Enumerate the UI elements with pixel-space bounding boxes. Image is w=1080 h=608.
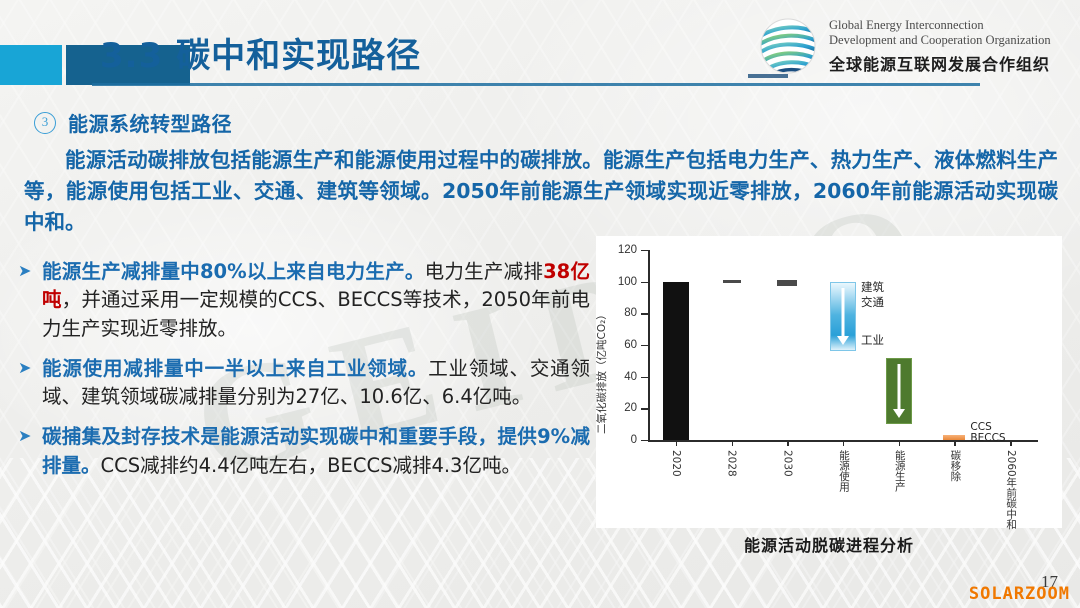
chart-y-tick-label: 60: [624, 339, 637, 351]
chart-x-tick-label: 碳移除: [948, 450, 963, 482]
arrow-bullet-icon: ➤: [18, 258, 36, 283]
section-heading: 3 能源系统转型路径: [34, 108, 232, 137]
arrow-bullet-icon: ➤: [18, 423, 36, 448]
list-item: ➤ 能源生产减排量中80%以上来自电力生产。电力生产减排38亿吨，并通过采用一定…: [18, 258, 590, 343]
chart-y-tick-label: 40: [624, 371, 637, 383]
slide: GEIDCO 3.3 碳中和实现路径: [0, 0, 1080, 608]
bullet-text: 能源使用减排量中一半以上来自工业领域。工业领域、交通领域、建筑领域碳减排量分别为…: [42, 355, 590, 412]
chart-bar: [663, 282, 689, 440]
logo-en-line2: Development and Cooperation Organization: [829, 33, 1051, 49]
section-heading-label: 能源系统转型路径: [68, 108, 232, 137]
chart-x-tick-label: 2028: [726, 450, 738, 477]
page-title: 3.3 碳中和实现路径: [100, 28, 421, 77]
chart-y-tick-label: 0: [631, 434, 637, 446]
intro-paragraph: 能源活动碳排放包括能源生产和能源使用过程中的碳排放。能源生产包括电力生产、热力生…: [24, 145, 1058, 238]
bullet-rest-a: CCS减排约4.4亿吨左右，BECCS减排4.3亿吨。: [101, 454, 521, 477]
chart-y-tick: [641, 408, 648, 409]
globe-icon: [757, 15, 819, 77]
chart-segment-label: 交通: [861, 294, 884, 310]
chart-bar: [943, 435, 965, 440]
chart-y-tick: [641, 250, 648, 251]
chart-x-tick-label: 2060年前碳中和: [1004, 450, 1019, 529]
chart-x-tick: [843, 440, 844, 446]
bullet-rest-a: 电力生产减排: [425, 260, 543, 283]
chart-y-axis-label: 二氧化碳排放（亿吨CO₂）: [594, 234, 609, 434]
chart-y-tick: [641, 313, 648, 314]
chart-arrow-head-icon: [837, 336, 849, 345]
chart-y-tick: [641, 345, 648, 346]
chart-x-tick: [954, 440, 955, 446]
chart-arrow-head-icon: [893, 409, 905, 418]
header-accent-light: [0, 45, 62, 85]
chart-y-tick-label: 20: [624, 402, 637, 414]
chart-annotation-ccs: CCSBECCS: [970, 422, 1005, 444]
chart-segment-label: 工业: [861, 332, 884, 348]
chart-y-tick-label: 80: [624, 307, 637, 319]
chart-x-tick-label: 2030: [781, 450, 793, 477]
chart-bar: [723, 280, 741, 283]
chart-y-tick: [641, 282, 648, 283]
chart-x-tick: [1010, 440, 1011, 446]
chart-x-tick-label: 能源使用: [837, 450, 852, 492]
chart-x-tick: [732, 440, 733, 446]
chart-title: 能源活动脱碳进程分析: [596, 532, 1062, 556]
bullet-list: ➤ 能源生产减排量中80%以上来自电力生产。电力生产减排38亿吨，并通过采用一定…: [18, 258, 590, 492]
arrow-bullet-icon: ➤: [18, 355, 36, 380]
chart-annotation-beccs-label: BECCS: [970, 433, 1005, 444]
chart-x-tick: [787, 440, 788, 446]
chart-x-tick-label: 2020: [670, 450, 682, 477]
chart-bar: [777, 280, 797, 286]
header-rule: [92, 83, 980, 86]
chart-y-tick-label: 100: [618, 276, 637, 288]
header-band: 3.3 碳中和实现路径: [0, 0, 1080, 92]
section-marker: 3: [34, 112, 56, 134]
logo-en-line1: Global Energy Interconnection: [829, 18, 1051, 34]
logo-text: Global Energy Interconnection Developmen…: [829, 18, 1051, 75]
bullet-text: 能源生产减排量中80%以上来自电力生产。电力生产减排38亿吨，并通过采用一定规模…: [42, 258, 590, 343]
chart-x-tick: [676, 440, 677, 446]
chart-y-axis: [648, 250, 650, 440]
chart-panel: 二氧化碳排放（亿吨CO₂） 02040608010012020202028203…: [596, 236, 1062, 528]
chart-y-tick: [641, 440, 648, 441]
solarzoom-watermark: SOLARZOOM: [969, 584, 1070, 604]
list-item: ➤ 碳捕集及封存技术是能源活动实现碳中和重要手段，提供9%减排量。CCS减排约4…: [18, 423, 590, 480]
logo-cn-name: 全球能源互联网发展合作组织: [829, 51, 1051, 75]
bullet-lead: 能源使用减排量中一半以上来自工业领域。: [42, 357, 428, 380]
chart-arrow-stem-icon: [897, 364, 900, 411]
geidco-logo: Global Energy Interconnection Developmen…: [757, 12, 1069, 80]
chart-x-tick: [899, 440, 900, 446]
chart-arrow-stem-icon: [842, 288, 845, 338]
chart-y-tick: [641, 377, 648, 378]
bullet-rest-b: ，并通过采用一定规模的CCS、BECCS等技术，2050年前电力生产实现近零排放…: [42, 288, 590, 339]
bullet-text: 碳捕集及封存技术是能源活动实现碳中和重要手段，提供9%减排量。CCS减排约4.4…: [42, 423, 590, 480]
chart-y-tick-label: 120: [618, 244, 637, 256]
chart-x-tick-label: 能源生产: [893, 450, 908, 492]
list-item: ➤ 能源使用减排量中一半以上来自工业领域。工业领域、交通领域、建筑领域碳减排量分…: [18, 355, 590, 412]
bullet-lead: 能源生产减排量中80%以上来自电力生产。: [42, 260, 425, 283]
chart-plot-area: 020406080100120202020282030能源使用能源生产碳移除20…: [648, 250, 1038, 440]
